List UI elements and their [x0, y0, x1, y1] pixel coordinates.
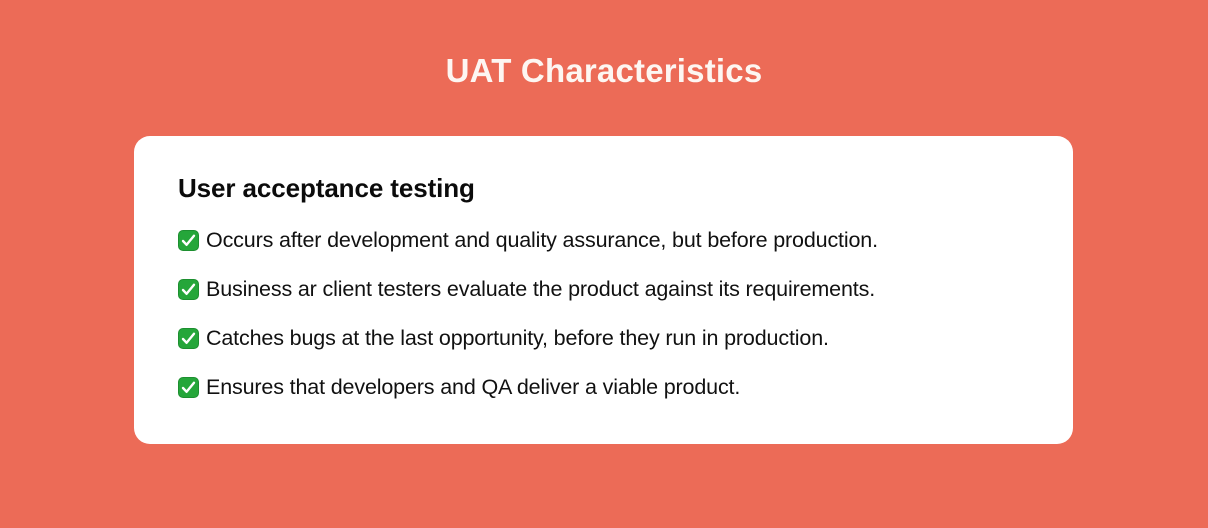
- slide-canvas: UAT Characteristics User acceptance test…: [0, 0, 1208, 528]
- characteristics-list: Occurs after development and quality ass…: [178, 226, 1029, 401]
- green-check-icon: [178, 230, 199, 251]
- green-check-icon: [178, 377, 199, 398]
- page-title: UAT Characteristics: [0, 50, 1208, 92]
- list-item-label: Ensures that developers and QA deliver a…: [206, 373, 740, 401]
- list-item: Occurs after development and quality ass…: [178, 226, 1029, 254]
- list-item-label: Catches bugs at the last opportunity, be…: [206, 324, 829, 352]
- list-item-label: Business ar client testers evaluate the …: [206, 275, 875, 303]
- list-item-label: Occurs after development and quality ass…: [206, 226, 878, 254]
- list-item: Catches bugs at the last opportunity, be…: [178, 324, 1029, 352]
- list-item: Business ar client testers evaluate the …: [178, 275, 1029, 303]
- content-card: User acceptance testing Occurs after dev…: [134, 136, 1073, 444]
- list-item: Ensures that developers and QA deliver a…: [178, 373, 1029, 401]
- card-heading: User acceptance testing: [178, 172, 1029, 204]
- green-check-icon: [178, 328, 199, 349]
- green-check-icon: [178, 279, 199, 300]
